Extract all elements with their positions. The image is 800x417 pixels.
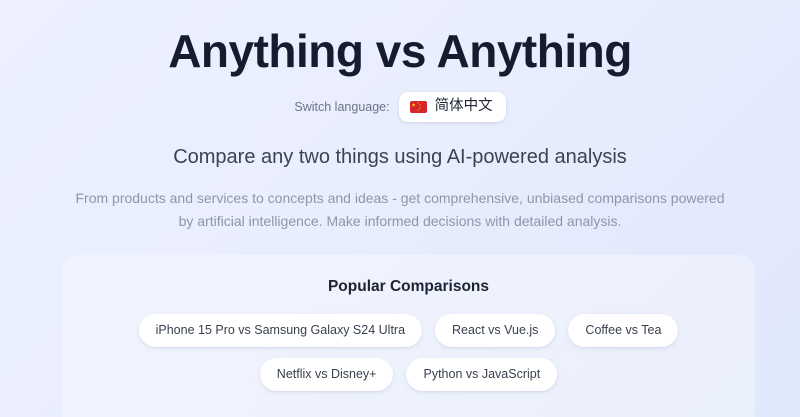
landing-page: Anything vs Anything Switch language: 简体… [0,0,800,417]
page-title: Anything vs Anything [168,0,632,80]
comparison-chip[interactable]: iPhone 15 Pro vs Samsung Galaxy S24 Ultr… [139,314,422,347]
popular-comparisons-card: Popular Comparisons iPhone 15 Pro vs Sam… [62,255,755,417]
comparison-chip[interactable]: Netflix vs Disney+ [260,358,394,391]
page-subtitle: Compare any two things using AI-powered … [173,122,627,170]
language-switcher: Switch language: 简体中文 [294,92,505,122]
language-switcher-label: Switch language: [294,99,389,115]
popular-comparisons-list: iPhone 15 Pro vs Samsung Galaxy S24 Ultr… [88,314,729,391]
language-switch-button-label: 简体中文 [435,98,493,115]
china-flag-icon [410,101,427,113]
comparison-chip[interactable]: Coffee vs Tea [568,314,678,347]
comparison-chip[interactable]: React vs Vue.js [435,314,555,347]
language-switch-button[interactable]: 简体中文 [399,92,506,122]
comparison-chip[interactable]: Python vs JavaScript [406,358,557,391]
popular-comparisons-heading: Popular Comparisons [88,277,729,297]
page-description: From products and services to concepts a… [75,170,725,233]
